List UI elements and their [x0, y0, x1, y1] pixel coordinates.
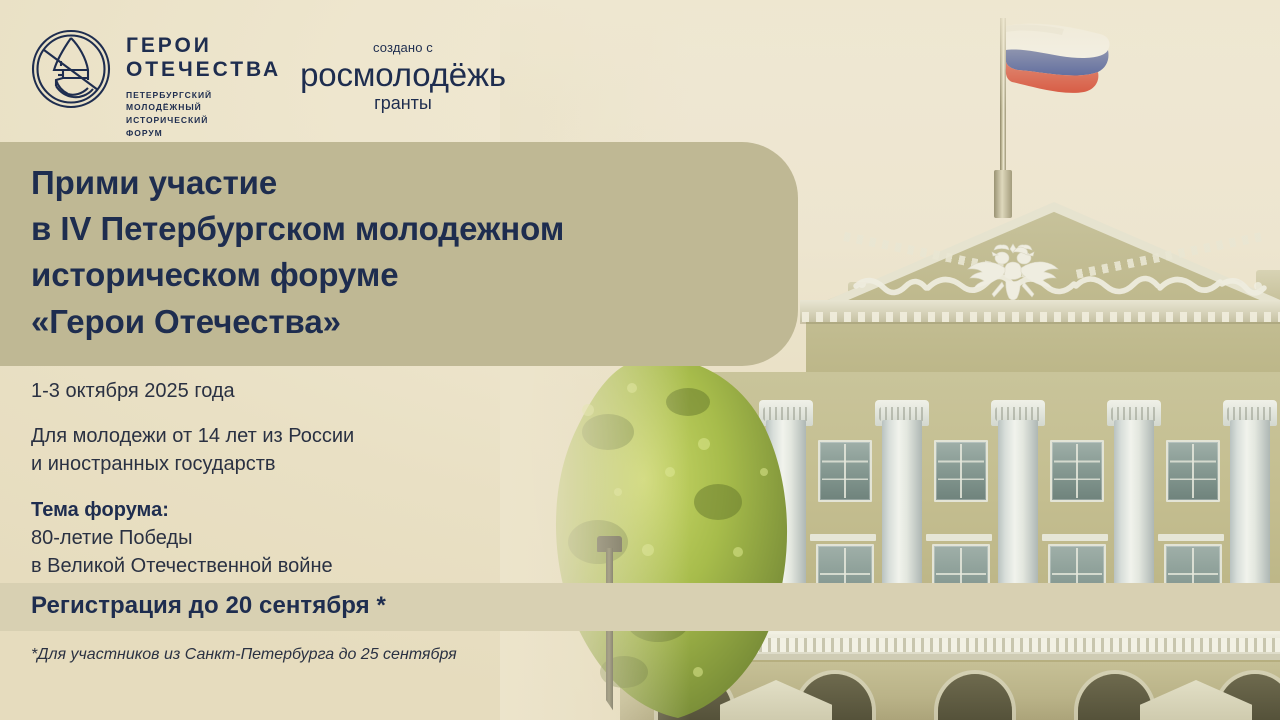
event-audience: Для молодежи от 14 лет из России и иност… — [31, 422, 511, 479]
page-title-line: историческом форуме — [31, 252, 771, 298]
event-audience-line: и иностранных государств — [31, 450, 511, 478]
hero-profile-in-circle-icon — [30, 28, 112, 110]
rosmolodezh-kicker: создано с — [289, 40, 517, 55]
forum-logo-subtitle-line: ПЕТЕРБУРГСКИЙ — [126, 89, 281, 102]
registration-footnote: *Для участников из Санкт-Петербурга до 2… — [31, 646, 457, 664]
forum-logo-subtitle: ПЕТЕРБУРГСКИЙ МОЛОДЁЖНЫЙ ИСТОРИЧЕСКИЙ ФО… — [126, 89, 281, 140]
page-title: Прими участие в IV Петербургском молодеж… — [31, 160, 771, 345]
forum-logo-text: ГЕРОИ ОТЕЧЕСТВА ПЕТЕРБУРГСКИЙ МОЛОДЁЖНЫЙ… — [126, 28, 281, 140]
page-title-line: в IV Петербургском молодежном — [31, 206, 771, 252]
forum-logo-title-line: ОТЕЧЕСТВА — [126, 58, 281, 82]
rosmolodezh-logo[interactable]: создано с росмолодёжь гранты — [289, 40, 517, 114]
forum-logo-title-line: ГЕРОИ — [126, 34, 281, 58]
event-theme-line: 80-летие Победы — [31, 524, 511, 552]
content-layer: ГЕРОИ ОТЕЧЕСТВА ПЕТЕРБУРГСКИЙ МОЛОДЁЖНЫЙ… — [0, 0, 1280, 720]
event-dates: 1-3 октября 2025 года — [31, 378, 511, 404]
registration-deadline: Регистрация до 20 сентября * — [31, 592, 386, 620]
forum-logo-subtitle-line: МОЛОДЁЖНЫЙ — [126, 101, 281, 114]
forum-logo[interactable]: ГЕРОИ ОТЕЧЕСТВА ПЕТЕРБУРГСКИЙ МОЛОДЁЖНЫЙ… — [30, 28, 281, 140]
rosmolodezh-program: гранты — [289, 93, 517, 114]
forum-logo-subtitle-line: ИСТОРИЧЕСКИЙ — [126, 114, 281, 127]
event-details: 1-3 октября 2025 года Для молодежи от 14… — [31, 378, 511, 581]
rosmolodezh-name: росмолодёжь — [289, 58, 517, 92]
event-audience-line: Для молодежи от 14 лет из России — [31, 422, 511, 450]
event-theme-label: Тема форума: — [31, 496, 511, 524]
forum-logo-title: ГЕРОИ ОТЕЧЕСТВА — [126, 34, 281, 83]
forum-logo-subtitle-line: ФОРУМ — [126, 127, 281, 140]
page-title-line: «Герои Отечества» — [31, 299, 771, 345]
event-theme: 80-летие Победы в Великой Отечественной … — [31, 524, 511, 581]
page-title-line: Прими участие — [31, 160, 771, 206]
event-theme-line: в Великой Отечественной войне — [31, 552, 511, 580]
poster: ГЕРОИ ОТЕЧЕСТВА ПЕТЕРБУРГСКИЙ МОЛОДЁЖНЫЙ… — [0, 0, 1280, 720]
